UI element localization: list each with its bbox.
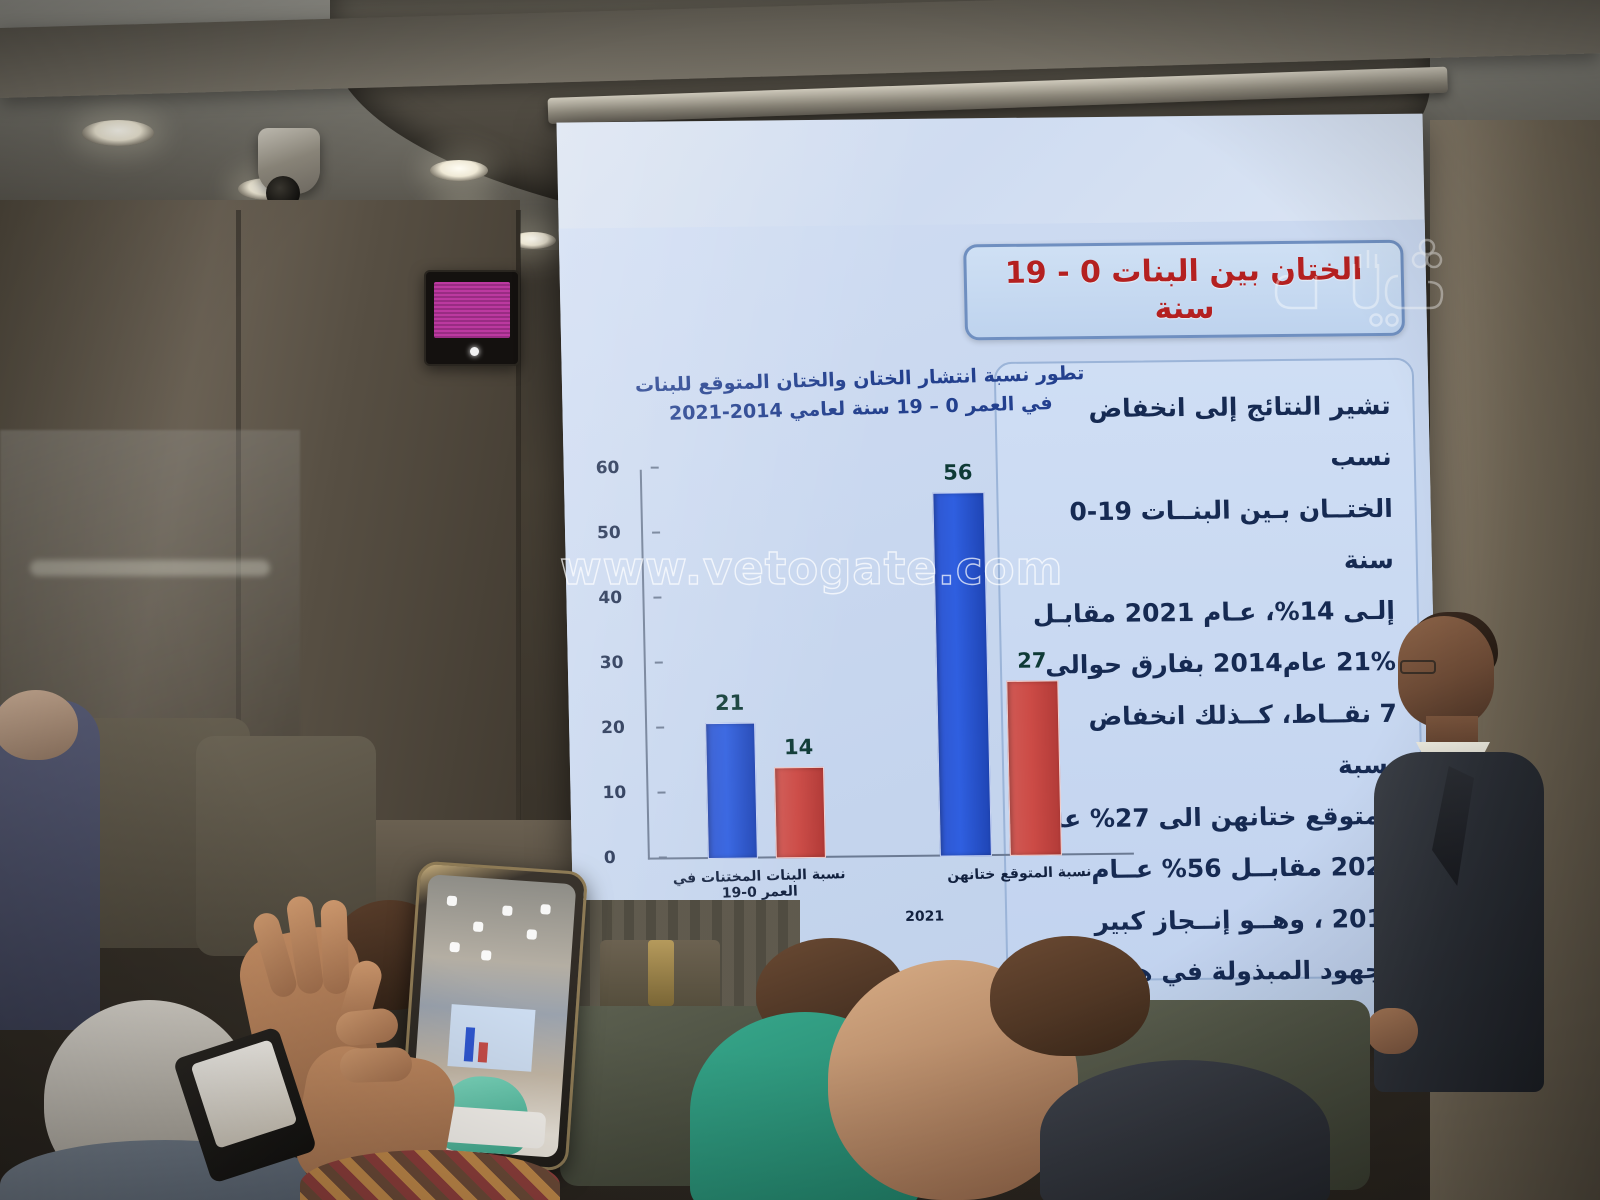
bar-2014-group1 [705,723,758,859]
audience-head [0,690,78,760]
bar-value-label: 14 [773,735,824,760]
phone-mini-slide-preview [447,1004,535,1072]
photo-scene: الختان بين البنات 0 - 19 سنة تشير النتائ… [0,0,1600,1200]
bar-2021-group1 [774,767,826,859]
y-tick-label: 60 [596,458,620,478]
presenter-glasses-icon [1400,660,1436,674]
chart-bars: 21 14 56 27 [642,465,1134,860]
bar-value-label: 27 [1006,648,1059,673]
podium-post [648,940,674,1006]
finger [320,900,349,995]
legend-year-label: 2021 [905,909,944,925]
presenter-hand [1366,1008,1418,1054]
phone-mini-bar-blue [464,1027,475,1062]
finger [339,1047,412,1083]
bar-2014-group2 [932,492,992,856]
projection-screen: الختان بين البنات 0 - 19 سنة تشير النتائ… [556,114,1441,1033]
y-tick-label: 50 [597,523,621,543]
y-tick-label: 0 [604,848,616,868]
slide-title: الختان بين البنات 0 - 19 سنة [966,250,1402,330]
glass-reflection [30,560,270,576]
wall-display-indicator-icon [470,347,479,356]
phone-ceiling-lights-reflection [440,893,555,980]
presenter [1360,616,1550,1086]
audience-head-dark [990,936,1150,1056]
x-category-label-2: نسبة المتوقع ختانهن [924,863,1115,884]
y-tick-label: 30 [600,653,624,673]
chart-title: تطور نسبة انتشار الختان والختان المتوقع … [619,359,1101,429]
y-tick-label: 20 [601,718,625,738]
y-tick-label: 40 [598,588,622,608]
slide-title-box: الختان بين البنات 0 - 19 سنة [963,240,1405,341]
ceiling-downlight [430,160,488,181]
x-category-label-1: نسبة البنات المختنات في العمر 0-19 [654,866,865,904]
phone-mini-bar-red [478,1042,488,1063]
bar-value-label: 21 [704,691,755,716]
bar-2021-group2 [1006,680,1062,856]
bar-value-label: 56 [932,460,985,485]
wall-display-screen [434,282,510,338]
wall-display-panel [424,270,520,366]
chart-plot-area: 60 50 40 30 20 10 [596,455,1137,880]
ceiling-downlight [82,120,154,146]
y-tick-label: 10 [602,783,626,803]
audience-shoulders [1040,1060,1330,1200]
